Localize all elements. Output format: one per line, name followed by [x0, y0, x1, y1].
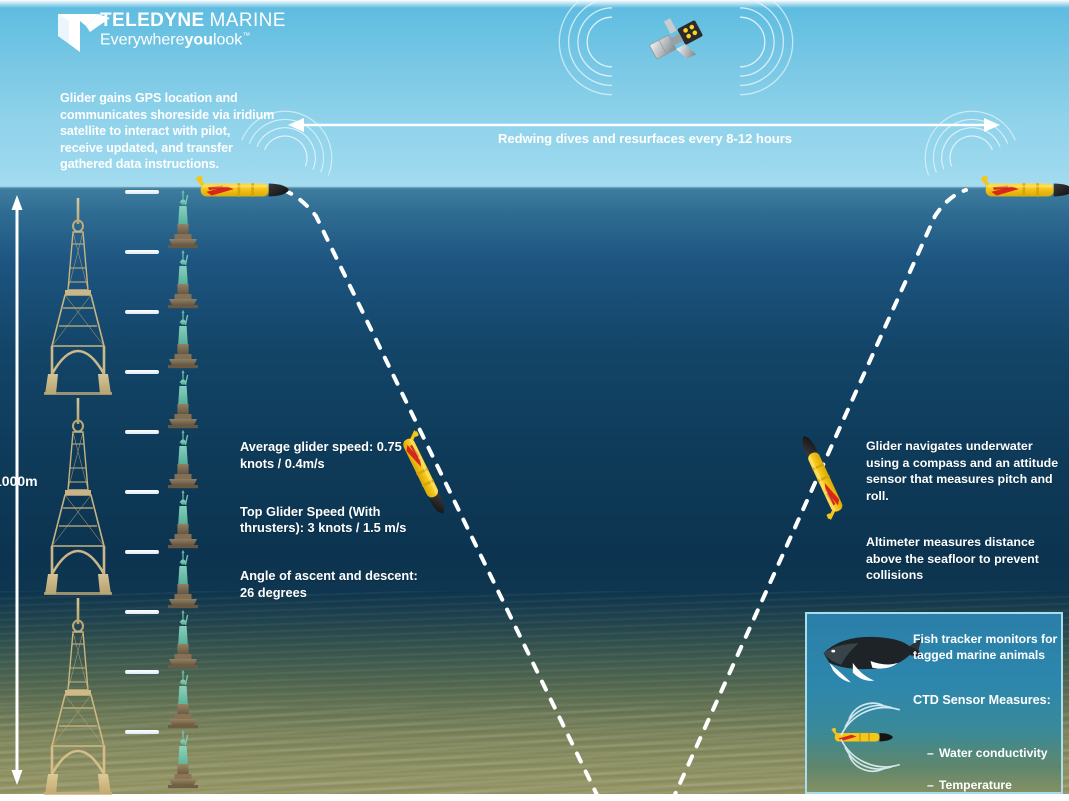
brand-division: MARINE [210, 10, 286, 31]
brand-tagline-bold: you [184, 31, 212, 48]
depth-tick [125, 490, 159, 494]
ctd-item: –Water conductivity [927, 746, 1048, 762]
depth-tick [125, 610, 159, 614]
sky-top-fade [0, 0, 1069, 8]
ctd-measures-list: –Water conductivity –Temperature –Depth/… [927, 714, 1048, 794]
brand-tagline-pre: Everywhere [100, 31, 184, 48]
depth-scale-label: 1000m [0, 472, 38, 490]
depth-tick [125, 310, 159, 314]
depth-tick [125, 250, 159, 254]
depth-tick [125, 670, 159, 674]
water-surface-line [0, 186, 1069, 189]
ctd-item-label: Water conductivity [939, 746, 1048, 760]
stat-dive-angle: Angle of ascent and descent: 26 degrees [240, 568, 430, 602]
brand-trademark: ™ [242, 31, 250, 40]
bottom-white-margin [0, 794, 1069, 801]
navigation-note: Glider navigates underwater using a comp… [866, 438, 1062, 504]
brand-logo: TELEDYNEMARINE Everywhereyoulook™ [28, 8, 278, 56]
whale-icon [823, 637, 923, 683]
altimeter-note: Altimeter measures distance above the se… [866, 534, 1062, 583]
list-bullet: – [927, 778, 939, 794]
gps-communication-note: Glider gains GPS location and communicat… [60, 90, 275, 173]
glider-stats-block: Average glider speed: 0.75 knots / 0.4m/… [240, 422, 430, 619]
sensor-inset-panel: Fish tracker monitors for tagged marine … [805, 612, 1063, 794]
fish-tracker-note: Fish tracker monitors for tagged marine … [913, 632, 1059, 664]
stat-average-speed: Average glider speed: 0.75 knots / 0.4m/… [240, 439, 430, 473]
ctd-item-label: Temperature [939, 778, 1012, 792]
infographic-canvas: 1000m [0, 0, 1069, 801]
depth-tick [125, 550, 159, 554]
brand-name: TELEDYNE [100, 10, 205, 31]
brand-tagline-post: look [213, 31, 242, 48]
ctd-sensor-title: CTD Sensor Measures: [913, 692, 1051, 708]
depth-tick [125, 370, 159, 374]
depth-tick [125, 730, 159, 734]
depth-tick [125, 430, 159, 434]
depth-tick [125, 190, 159, 194]
ctd-item: –Temperature [927, 778, 1048, 794]
navigation-notes-block: Glider navigates underwater using a comp… [866, 422, 1062, 600]
list-bullet: – [927, 746, 939, 762]
stat-top-speed: Top Glider Speed (With thrusters): 3 kno… [240, 504, 430, 538]
dive-cycle-label: Redwing dives and resurfaces every 8-12 … [300, 130, 990, 147]
glider-icon-inset [831, 728, 893, 742]
